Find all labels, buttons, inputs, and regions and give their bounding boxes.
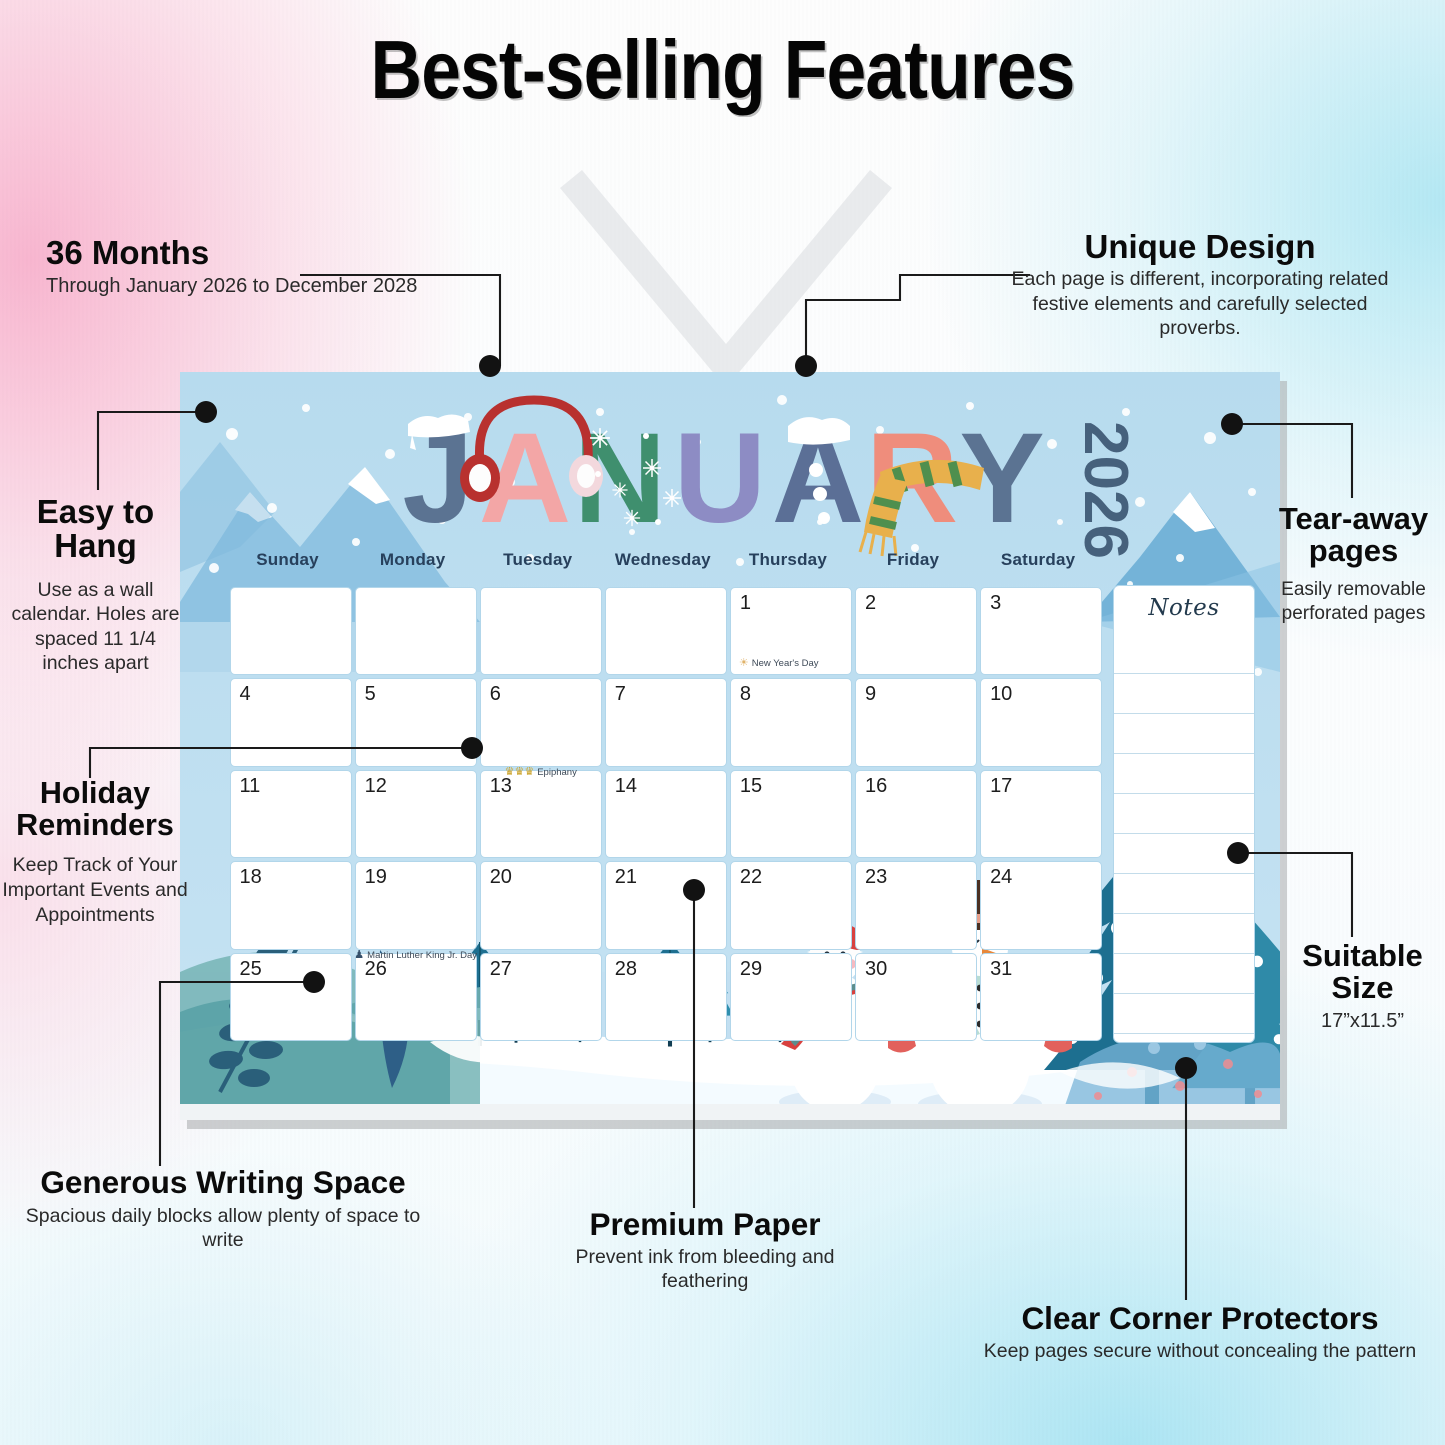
calendar-empty-cell [355,587,477,676]
calendar-card[interactable]: J A N U A R Y [180,372,1280,1120]
day-number: 18 [240,866,262,889]
day-number: 8 [740,683,751,706]
notes-line[interactable] [1114,674,1254,714]
day-number: 23 [865,866,887,889]
day-number: 6 [490,683,501,706]
day-number: 19 [365,866,387,889]
calendar-day-cell[interactable]: 5 [355,678,477,767]
calendar-day-cell[interactable]: 21 [605,861,727,950]
day-number: 11 [240,775,261,798]
page-title: Best-selling Features [101,22,1344,118]
day-number: 5 [365,683,376,706]
calendar-day-cell[interactable]: 27 [480,953,602,1042]
holiday-name: New Year's Day [752,658,819,669]
callout-title-premium-paper: Premium Paper [540,1208,870,1241]
callout-sub-tear-away-pages: Easily removable perforated pages [1262,578,1445,626]
calendar-day-cell[interactable]: 4 [230,678,352,767]
callout-tear-away-pages: Tear-away pages Easily removable perfora… [1262,503,1445,626]
day-number: 24 [990,866,1012,889]
calendar-empty-cell [480,587,602,676]
callout-title-generous-writing-space: Generous Writing Space [8,1166,438,1199]
day-number: 14 [615,775,637,798]
notes-line[interactable] [1114,794,1254,834]
notes-line[interactable] [1114,834,1254,874]
day-number: 16 [865,775,887,798]
callout-36-months: 36 Months Through January 2026 to Decemb… [46,236,496,300]
notes-line[interactable] [1114,874,1254,914]
callout-sub-36-months: Through January 2026 to December 2028 [46,274,496,299]
holiday-label: ♟Martin Luther King Jr. Day [354,950,477,961]
calendar-day-cell[interactable]: 6♛♛♛Epiphany [480,678,602,767]
callout-title-unique-design: Unique Design [1000,230,1400,264]
weekday-monday: Monday [350,550,475,584]
callout-title-holiday-reminders: Holiday Reminders [0,778,190,841]
calendar-day-cell[interactable]: 28 [605,953,727,1042]
weekday-sunday: Sunday [225,550,350,584]
notes-line[interactable] [1114,1034,1254,1043]
calendar-day-cell[interactable]: 22 [730,861,852,950]
notes-lines[interactable] [1114,634,1254,1042]
day-number: 29 [740,958,762,981]
calendar-day-cell[interactable]: 12 [355,770,477,859]
weekday-tuesday: Tuesday [475,550,600,584]
callout-sub-suitable-size: 17”x11.5” [1280,1009,1445,1034]
calendar-day-cell[interactable]: 7 [605,678,727,767]
notes-panel[interactable]: Notes [1113,585,1255,1043]
weekday-friday: Friday [850,550,975,584]
day-number: 10 [990,683,1012,706]
calendar-day-cell[interactable]: 14 [605,770,727,859]
callout-title-tear-away-pages: Tear-away pages [1262,503,1445,567]
notes-line[interactable] [1114,994,1254,1034]
notes-line[interactable] [1114,754,1254,794]
notes-line[interactable] [1114,634,1254,674]
day-number: 28 [615,958,637,981]
day-number: 21 [615,866,637,889]
day-number: 30 [865,958,887,981]
calendar-day-cell[interactable]: 20 [480,861,602,950]
callout-sub-holiday-reminders: Keep Track of Your Important Events and … [0,853,190,927]
day-number: 15 [740,775,762,798]
callout-sub-generous-writing-space: Spacious daily blocks allow plenty of sp… [8,1204,438,1253]
calendar-day-cell[interactable]: 2 [855,587,977,676]
callout-title-36-months: 36 Months [46,236,496,270]
calendar-day-cell[interactable]: 13 [480,770,602,859]
day-number: 7 [615,683,626,706]
calendar-day-cell[interactable]: 29 [730,953,852,1042]
callout-holiday-reminders: Holiday Reminders Keep Track of Your Imp… [0,778,190,927]
weekday-saturday: Saturday [976,550,1101,584]
callout-title-easy-to-hang: Easy to Hang [8,495,183,564]
three-kings-icon: ♛♛♛ [505,767,535,778]
callout-sub-clear-corner-protectors: Keep pages secure without concealing the… [975,1339,1425,1364]
day-number: 22 [740,866,762,889]
day-number: 26 [365,958,387,981]
day-number: 12 [365,775,387,798]
calendar-day-cell[interactable]: 19♟Martin Luther King Jr. Day [355,861,477,950]
calendar-day-cell[interactable]: 25 [230,953,352,1042]
holiday-label: ☀New Year's Day [739,658,847,669]
calendar-day-cell[interactable]: 24 [980,861,1102,950]
day-number: 4 [240,683,251,706]
calendar-day-cell[interactable]: 10 [980,678,1102,767]
weekday-header-row: Sunday Monday Tuesday Wednesday Thursday… [180,550,1280,584]
callout-clear-corner-protectors: Clear Corner Protectors Keep pages secur… [975,1302,1425,1363]
calendar-year: 2026 [1071,421,1140,559]
calendar-day-cell[interactable]: 15 [730,770,852,859]
callout-premium-paper: Premium Paper Prevent ink from bleeding … [540,1208,870,1294]
day-number: 17 [990,775,1012,798]
calendar-day-cell[interactable]: 17 [980,770,1102,859]
day-number: 27 [490,958,512,981]
calendar-day-cell[interactable]: 30 [855,953,977,1042]
notes-line[interactable] [1114,914,1254,954]
callout-easy-to-hang: Easy to Hang Use as a wall calendar. Hol… [8,495,183,676]
mlk-portrait-icon: ♟ [354,950,364,961]
calendar-day-cell[interactable]: 3 [980,587,1102,676]
calendar-day-cell[interactable]: 11 [230,770,352,859]
month-letter-u: U [674,407,766,550]
callout-suitable-size: Suitable Size 17”x11.5” [1280,940,1445,1035]
calendar-day-cell[interactable]: 26 [355,953,477,1042]
callout-title-clear-corner-protectors: Clear Corner Protectors [975,1302,1425,1335]
callout-generous-writing-space: Generous Writing Space Spacious daily bl… [8,1166,438,1253]
callout-unique-design: Unique Design Each page is different, in… [1000,230,1400,341]
callout-sub-premium-paper: Prevent ink from bleeding and feathering [540,1245,870,1294]
day-number: 9 [865,683,876,706]
calendar-day-cell[interactable]: 18 [230,861,352,950]
sun-burst-icon: ☀ [739,658,749,669]
callout-sub-unique-design: Each page is different, incorporating re… [1000,267,1400,341]
day-number: 3 [990,592,1001,615]
day-number: 20 [490,866,512,889]
holiday-name: Epiphany [537,767,577,778]
callout-sub-easy-to-hang: Use as a wall calendar. Holes are spaced… [8,578,183,676]
calendar-day-cell[interactable]: 8 [730,678,852,767]
holiday-label: ♛♛♛Epiphany [505,767,577,778]
calendar-day-cell[interactable]: 1☀New Year's Day [730,587,852,676]
callout-title-suitable-size: Suitable Size [1280,940,1445,1004]
day-number: 31 [990,958,1012,981]
hanging-ribbon [530,148,920,380]
calendar-day-grid[interactable]: 1☀New Year's Day23456♛♛♛Epiphany78910111… [228,585,1105,1043]
holiday-name: Martin Luther King Jr. Day [367,950,477,961]
calendar-empty-cell [230,587,352,676]
calendar-day-cell[interactable]: 9 [855,678,977,767]
notes-line[interactable] [1114,714,1254,754]
calendar-day-cell[interactable]: 16 [855,770,977,859]
day-number: 13 [490,775,512,798]
notes-line[interactable] [1114,954,1254,994]
day-number: 2 [865,592,876,615]
day-number: 25 [240,958,262,981]
weekday-thursday: Thursday [725,550,850,584]
weekday-wednesday: Wednesday [600,550,725,584]
calendar-empty-cell [605,587,727,676]
day-number: 1 [740,592,751,615]
calendar-day-cell[interactable]: 31 [980,953,1102,1042]
calendar-day-cell[interactable]: 23 [855,861,977,950]
notes-title: Notes [1114,586,1254,621]
